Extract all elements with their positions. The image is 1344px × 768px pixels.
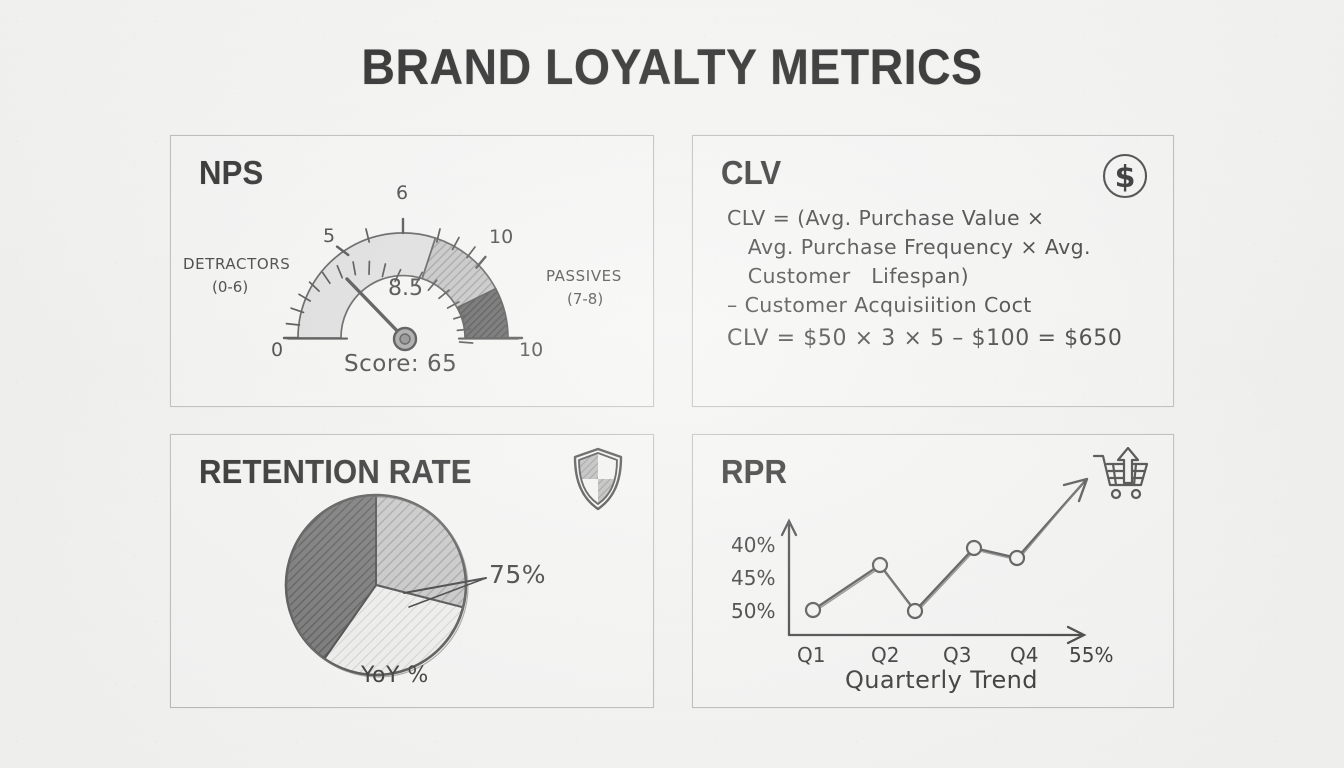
infographic-page: BRAND LOYALTY METRICS NPS [0,0,1344,768]
rpr-y-tick-40: 40% [731,533,775,557]
clv-formula-text: CLV = (Avg. Purchase Value × Avg. Purcha… [727,204,1147,320]
panel-clv[interactable]: CLV $ CLV = (Avg. Purchase Value × Avg. … [692,135,1174,407]
dollar-glyph: $ [1115,160,1136,195]
gauge-tick-label-6: 6 [396,182,408,204]
gauge-tick-label-5: 5 [323,225,335,247]
pie-caption: YoY % [361,663,429,688]
rpr-x-tick-q4: Q4 [1010,643,1038,667]
panel-rpr[interactable]: RPR [692,434,1174,708]
gauge-legend-detractors-line1: DETRACTORS [183,255,290,273]
panel-title-clv: CLV [721,154,781,192]
rpr-x-tick-q1: Q1 [797,643,825,667]
gauge-legend-detractors-line2: (0-6) [212,278,248,296]
gauge-tick-label-10-end: 10 [519,339,543,361]
pie-value-label: 75% [489,560,546,589]
rpr-y-tick-50: 50% [731,599,775,623]
rpr-line-series [813,481,1085,611]
panel-retention-rate[interactable]: RETENTION RATE [170,434,654,708]
rpr-x-tick-55: 55% [1069,643,1113,667]
gauge-value-label: 8.5 [388,276,423,301]
nps-score-label: Score: 65 [344,351,457,377]
gauge-tick-label-0: 0 [271,339,283,361]
gauge-tick-label-10-upper: 10 [489,226,513,248]
clv-result-text: CLV = $50 × 3 × 5 – $100 = $650 [727,326,1122,351]
rpr-x-tick-q3: Q3 [943,643,971,667]
rpr-x-tick-q2: Q2 [871,643,899,667]
gauge-legend-passives-line2: (7-8) [567,290,603,308]
rpr-y-tick-45: 45% [731,566,775,590]
gauge-legend-passives-line1: PASSIVES [546,267,622,285]
rpr-caption: Quarterly Trend [845,666,1038,694]
dollar-circle-icon: $ [1099,150,1151,206]
panel-nps[interactable]: NPS [170,135,654,407]
page-title: BRAND LOYALTY METRICS [47,38,1297,96]
